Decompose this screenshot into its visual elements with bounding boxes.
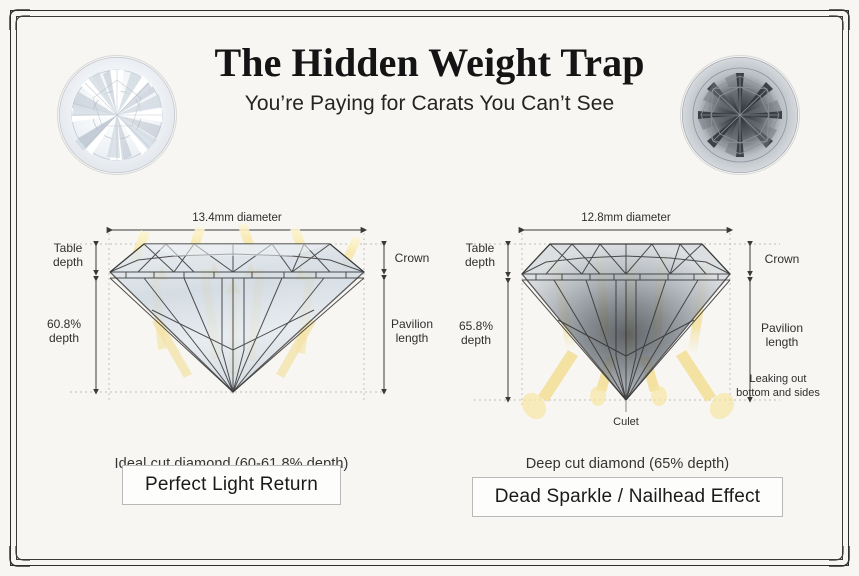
deep-cut-panel: 12.8mm diameter	[430, 200, 825, 530]
left-pavilion-dimension: Pavilion length	[384, 278, 433, 392]
infographic-canvas: The Hidden Weight Trap You’re Paying for…	[0, 0, 859, 576]
ideal-cut-panel: 13.4mm diameter	[34, 200, 429, 530]
left-diameter-label: 13.4mm diameter	[192, 212, 282, 224]
leak-label-line1: Leaking out	[750, 373, 807, 385]
right-crown-dimension: Crown	[750, 244, 799, 274]
right-crown-label: Crown	[765, 252, 800, 266]
left-crown-label: Crown	[395, 251, 430, 265]
left-crown-dimension: Crown	[384, 244, 429, 272]
corner-ornament-top-left	[8, 8, 30, 30]
leak-label-line2: bottom and sides	[736, 387, 820, 399]
perfect-light-return-badge[interactable]: Perfect Light Return	[122, 465, 341, 505]
right-depth-percent-line2: depth	[461, 333, 491, 347]
dead-sparkle-badge[interactable]: Dead Sparkle / Nailhead Effect	[472, 477, 783, 517]
left-total-depth-dimension: 60.8% depth	[47, 279, 96, 392]
right-pavilion-label-line1: Pavilion	[761, 321, 803, 335]
left-pavilion-label-line1: Pavilion	[391, 317, 433, 331]
right-pavilion-label-line2: length	[766, 335, 799, 349]
light-leak-annotation: Leaking out bottom and sides	[736, 373, 820, 399]
corner-ornament-top-right	[829, 8, 851, 30]
culet-label: Culet	[613, 416, 639, 428]
corner-ornament-bottom-left	[8, 546, 30, 568]
right-table-depth-label-line2: depth	[465, 255, 495, 269]
left-table-depth-label-line2: depth	[53, 255, 83, 269]
deep-cut-top-view-image	[681, 56, 799, 174]
right-depth-percent-line1: 65.8%	[459, 319, 493, 333]
right-table-depth-dimension: Table depth	[465, 241, 508, 275]
culet-annotation: Culet	[613, 400, 639, 428]
left-table-depth-label-line1: Table	[54, 241, 83, 255]
ideal-cut-top-view-image	[58, 56, 176, 174]
right-table-depth-label-line1: Table	[466, 241, 495, 255]
right-diameter-label: 12.8mm diameter	[581, 212, 671, 224]
right-total-depth-dimension: 65.8% depth	[459, 281, 508, 400]
left-pavilion-label-line2: length	[396, 331, 429, 345]
left-diameter-dimension: 13.4mm diameter	[110, 212, 364, 230]
deep-cut-caption: Deep cut diamond (65% depth)	[430, 456, 825, 472]
left-depth-percent-line1: 60.8%	[47, 317, 81, 331]
ideal-cut-cross-section	[110, 244, 364, 392]
left-depth-percent-line2: depth	[49, 331, 79, 345]
left-table-depth-dimension: Table depth	[53, 241, 96, 273]
right-diameter-dimension: 12.8mm diameter	[522, 212, 730, 230]
corner-ornament-bottom-right	[829, 546, 851, 568]
